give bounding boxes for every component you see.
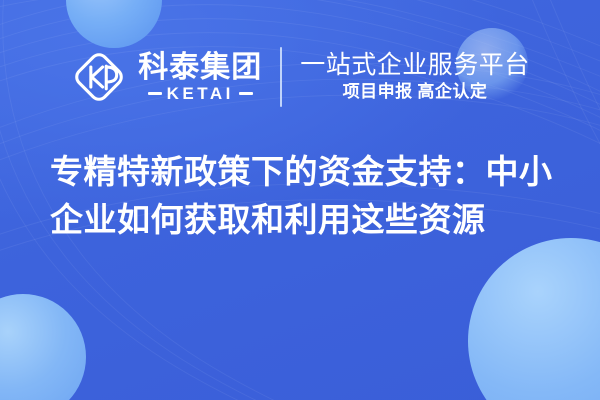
brand-wordmark: 科泰集团 KETAI: [138, 52, 262, 102]
sphere-bottom-right-icon: [468, 238, 600, 400]
header-divider: [280, 47, 282, 107]
brand-name-en-wrap: KETAI: [148, 85, 253, 102]
tagline-sub: 项目申报 高企认定: [343, 83, 488, 102]
tagline-main: 一站式企业服务平台: [300, 52, 530, 80]
promo-banner: 科泰集团 KETAI 一站式企业服务平台 项目申报 高企认定 专精特新政策下的资…: [0, 0, 600, 400]
sphere-bottom-left-icon: [0, 294, 86, 400]
banner-header: 科泰集团 KETAI 一站式企业服务平台 项目申报 高企认定: [0, 34, 600, 120]
page-title-line-2: 企业如何获取和利用这些资源: [50, 196, 550, 244]
wordmark-dash-left-icon: [148, 92, 162, 95]
brand-name-en: KETAI: [167, 85, 234, 102]
brand-logo[interactable]: 科泰集团 KETAI: [70, 48, 262, 106]
page-title-line-1: 专精特新政策下的资金支持：中小: [50, 148, 550, 196]
page-title: 专精特新政策下的资金支持：中小 企业如何获取和利用这些资源: [50, 148, 550, 244]
brand-name-cn: 科泰集团: [138, 52, 262, 84]
ketai-diamond-kp-monogram-icon: [70, 48, 128, 106]
wordmark-dash-right-icon: [239, 92, 253, 95]
brand-tagline: 一站式企业服务平台 项目申报 高企认定: [300, 52, 530, 102]
